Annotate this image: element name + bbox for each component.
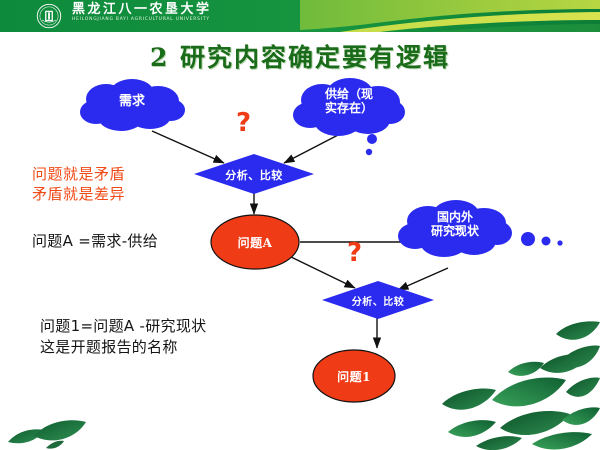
diamond-bottom-label: 分析、比较: [322, 293, 434, 308]
cloud-research-status-label: 国内外 研究现状: [396, 211, 514, 239]
equation-problem-a: 问题A =需求-供给: [32, 231, 158, 252]
university-seal-icon: [36, 3, 62, 29]
equation-problem-1: 问题1=问题A -研究现状 这是开题报告的名称: [40, 316, 206, 358]
slide-canvas: 黑龙江八一农垦大学 HEILONGJIANG BAYI AGRICULTURAL…: [0, 0, 600, 450]
cloud-demand-label: 需求: [76, 95, 188, 110]
diamond-analysis-compare-bottom[interactable]: 分析、比较: [322, 281, 434, 319]
cloud-supply-label: 供给（现 实存在）: [290, 88, 408, 116]
cloud-research-bubbles: [520, 228, 570, 250]
university-name-block: 黑龙江八一农垦大学 HEILONGJIANG BAYI AGRICULTURAL…: [72, 3, 212, 22]
diamond-analysis-compare-top[interactable]: 分析、比较: [194, 154, 314, 194]
header-divider: [0, 32, 600, 34]
red-annotation-note: 问题就是矛盾 矛盾就是差异: [32, 164, 125, 205]
university-name-cn: 黑龙江八一农垦大学: [72, 3, 212, 16]
cloud-supply[interactable]: 供给（现 实存在）: [290, 76, 408, 140]
diamond-top-label: 分析、比较: [194, 167, 314, 183]
question-mark-top: ?: [236, 110, 251, 136]
question-mark-bottom: ?: [347, 240, 362, 266]
ellipse-problem-a[interactable]: 问题A: [209, 213, 301, 271]
ellipse-problem-1[interactable]: 问题1: [311, 348, 397, 404]
university-name-en: HEILONGJIANG BAYI AGRICULTURAL UNIVERSIT…: [72, 18, 212, 22]
decorative-leaves-bottom-right: [440, 320, 600, 450]
cloud-supply-bubbles: [360, 132, 384, 162]
cloud-research-status[interactable]: 国内外 研究现状: [396, 198, 514, 260]
ellipse-problem-a-label: 问题A: [209, 234, 301, 251]
ellipse-problem-1-label: 问题1: [311, 368, 397, 385]
header-banner: 黑龙江八一农垦大学 HEILONGJIANG BAYI AGRICULTURAL…: [0, 0, 600, 32]
page-title: 2 研究内容确定要有逻辑: [0, 38, 600, 74]
decorative-leaves-bottom-left: [0, 380, 150, 450]
cloud-demand[interactable]: 需求: [76, 77, 188, 135]
